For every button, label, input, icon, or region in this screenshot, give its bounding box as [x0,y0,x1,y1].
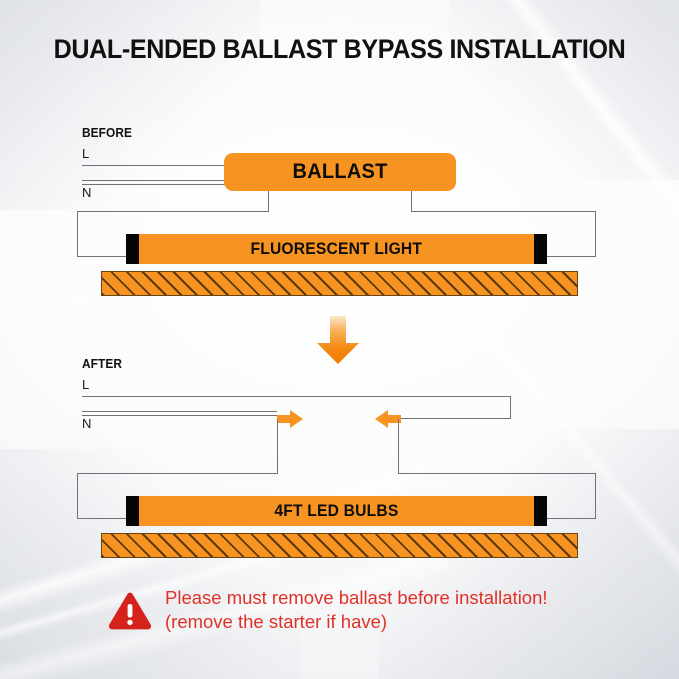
before-right-endcap [534,234,547,264]
before-ballast-out-right-drop [411,191,412,211]
after-fixture-housing [101,533,578,558]
after-right-endcap [534,496,547,526]
before-line-label: L [82,146,89,161]
led-tube: 4FT LED BULBS [139,496,534,526]
warning-triangle-icon [108,591,152,632]
warning-text-block: Please must remove ballast before instal… [165,586,548,633]
arrow-right-icon [277,409,303,429]
after-line-label: L [82,377,89,392]
diagram-canvas: DUAL-ENDED BALLAST BYPASS INSTALLATION B… [0,0,679,679]
led-tube-label: 4FT LED BULBS [274,501,398,521]
warning-line-2: (remove the starter if have) [165,610,548,634]
before-fixture-housing [101,271,578,296]
ballast-component: BALLAST [224,153,456,191]
after-neutral-label: N [82,416,91,431]
after-left-bus-drop [77,473,78,518]
fluorescent-tube-label: FLUORESCENT LIGHT [251,239,423,259]
before-neutral-wire [82,180,228,185]
after-right-endcap-feed [545,518,596,519]
warning-notice: Please must remove ballast before instal… [108,586,548,633]
after-left-feed-run [77,473,278,474]
page-title: DUAL-ENDED BALLAST BYPASS INSTALLATION [24,34,655,65]
after-right-bus-drop [595,473,596,518]
after-left-endcap-feed [77,518,129,519]
before-section-heading: BEFORE [82,126,132,140]
after-neutral-wire-run [82,411,277,416]
ballast-label: BALLAST [292,160,387,184]
after-section-heading: AFTER [82,357,122,371]
before-ballast-out-left-run [77,211,269,212]
before-left-endcap-feed [77,256,129,257]
after-right-feed-drop [398,419,399,473]
after-right-feed-run [398,473,596,474]
after-left-endcap [126,496,139,526]
background-shade-bottom-left [0,449,300,679]
before-ballast-out-left-drop [268,191,269,211]
background-shade-top-left [0,0,260,210]
after-live-wire-run [82,396,511,397]
fluorescent-tube: FLUORESCENT LIGHT [139,234,534,264]
background-shade-top-right [449,0,679,180]
warning-line-1: Please must remove ballast before instal… [165,586,548,610]
before-right-bus-drop [595,211,596,256]
before-ballast-out-right-run [411,211,596,212]
after-live-wire-return [398,418,511,419]
after-left-feed-drop [277,419,278,473]
background-swoosh [0,458,429,679]
after-live-wire-drop [510,396,511,418]
before-left-bus-drop [77,211,78,256]
before-live-wire [82,165,228,166]
before-right-endcap-feed [545,256,596,257]
arrow-down-icon [316,316,360,364]
before-left-endcap [126,234,139,264]
before-neutral-label: N [82,185,91,200]
